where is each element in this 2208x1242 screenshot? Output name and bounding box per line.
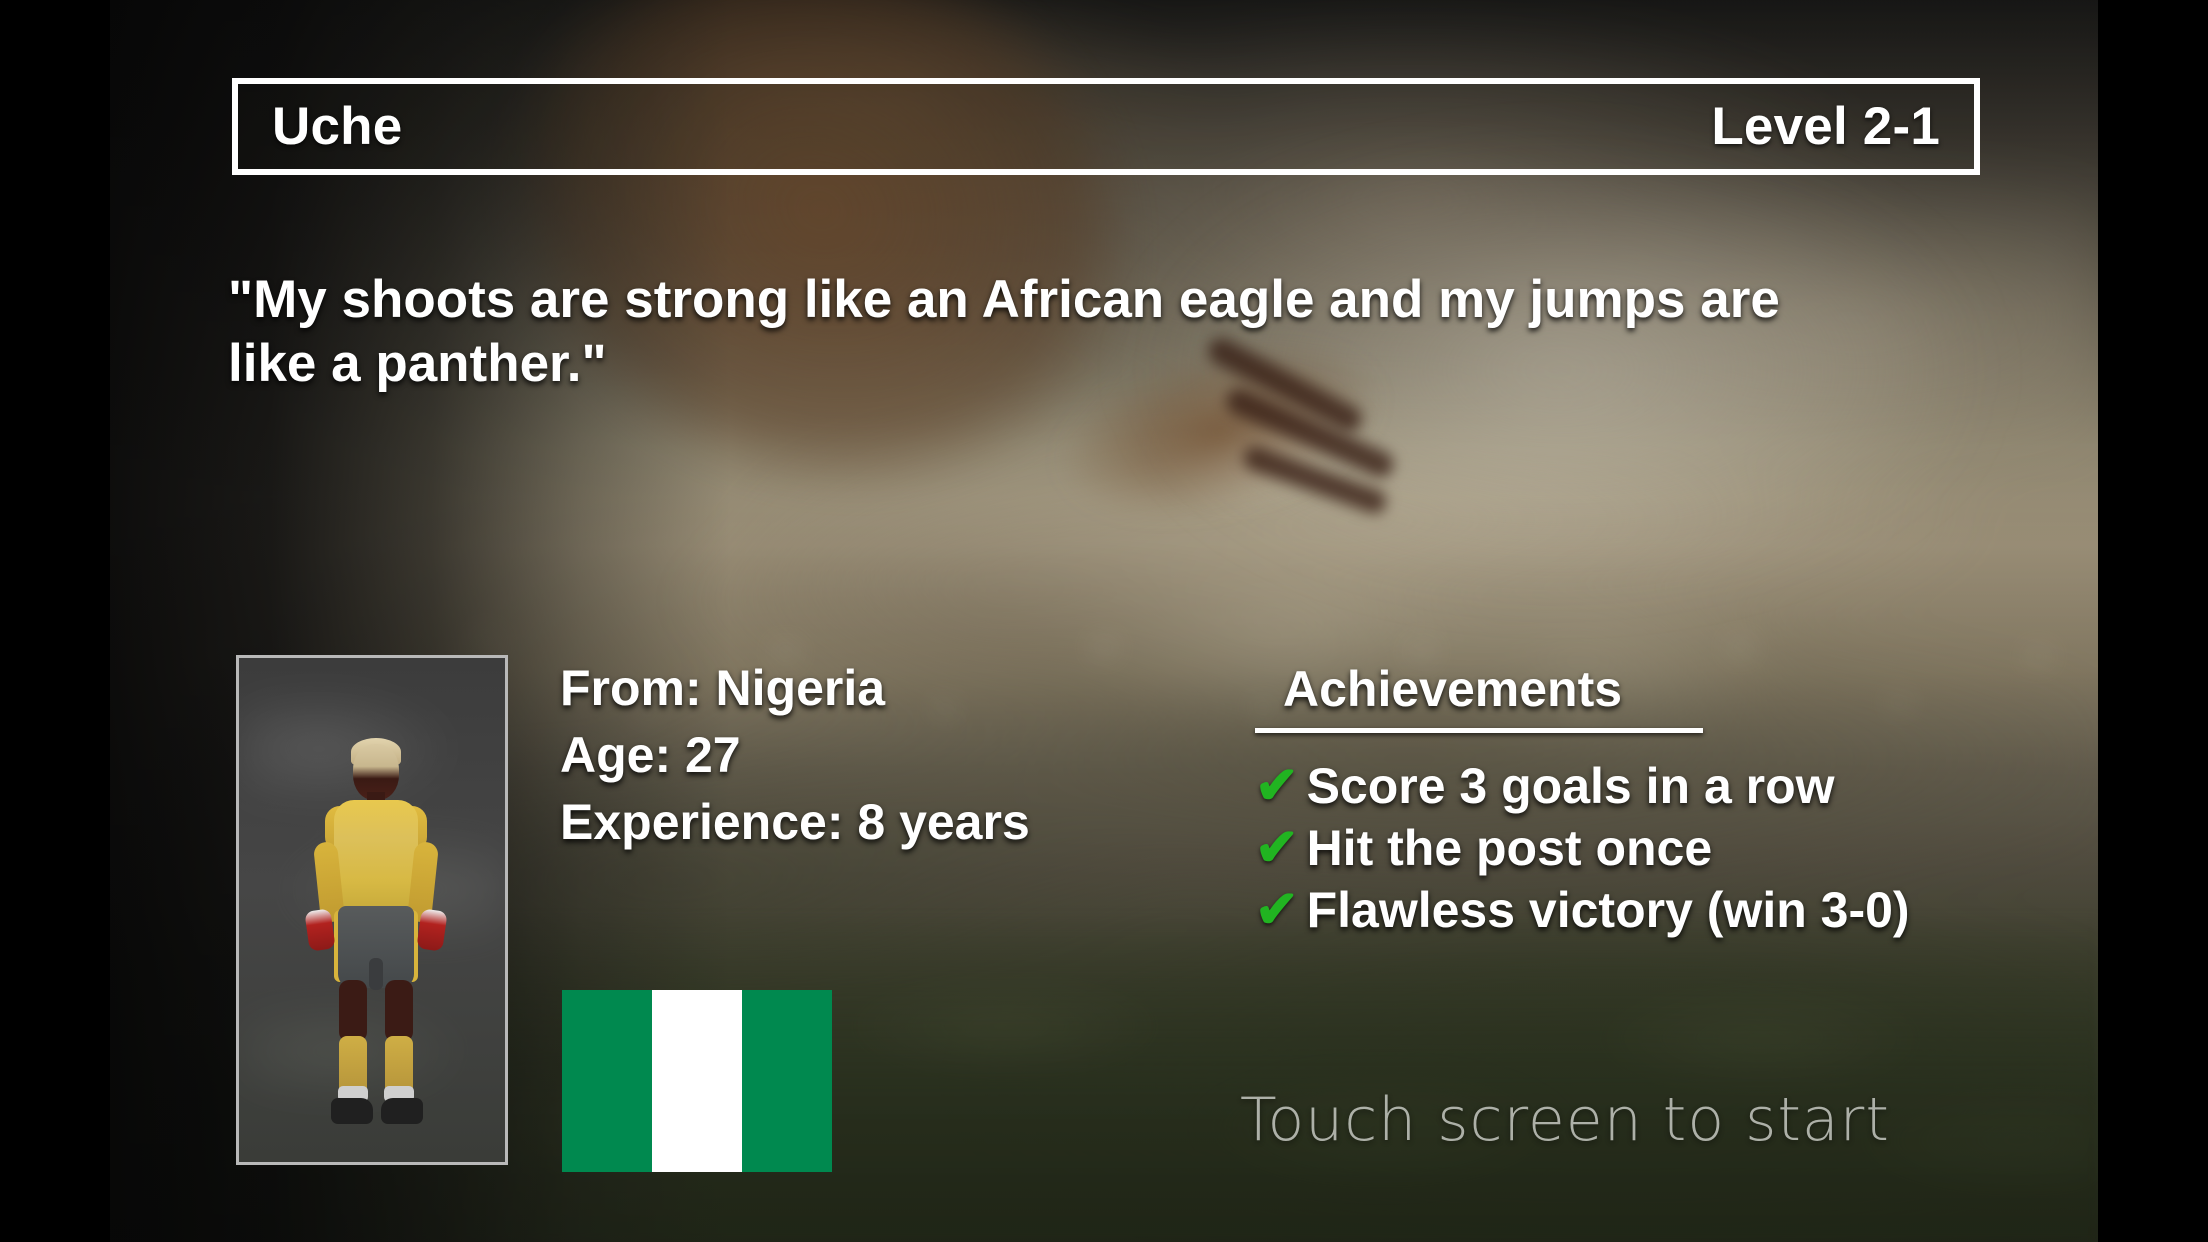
character-glove-left xyxy=(304,908,335,951)
letterbox-bar-left xyxy=(0,0,110,1242)
stat-from: From: Nigeria xyxy=(560,655,1030,722)
nigeria-flag xyxy=(562,990,832,1172)
game-screen[interactable]: Uche Level 2-1 "My shoots are strong lik… xyxy=(0,0,2208,1242)
player-quote: "My shoots are strong like an African ea… xyxy=(228,268,1868,395)
character-glove-right xyxy=(416,908,447,951)
character-jersey xyxy=(334,800,418,908)
character-leg-left xyxy=(339,980,367,1042)
character-boot-left xyxy=(331,1098,373,1124)
player-name: Uche xyxy=(272,100,402,153)
touch-to-start-prompt[interactable]: Touch screen to start xyxy=(1240,1085,1890,1155)
player-header-bar: Uche Level 2-1 xyxy=(232,78,1980,175)
achievements-panel: Achievements ✔ Score 3 goals in a row ✔ … xyxy=(1255,660,1910,941)
achievements-divider xyxy=(1255,728,1703,733)
character-shorts-gap xyxy=(369,958,383,990)
flag-stripe-white xyxy=(652,990,742,1172)
stat-age: Age: 27 xyxy=(560,722,1030,789)
stat-experience: Experience: 8 years xyxy=(560,789,1030,856)
check-icon: ✔ xyxy=(1255,822,1299,874)
letterbox-bar-right xyxy=(2098,0,2208,1242)
achievement-item: ✔ Score 3 goals in a row xyxy=(1255,755,1910,817)
level-label: Level 2-1 xyxy=(1711,100,1940,153)
check-icon: ✔ xyxy=(1255,884,1299,936)
achievement-label: Score 3 goals in a row xyxy=(1307,755,1835,817)
check-icon: ✔ xyxy=(1255,760,1299,812)
achievement-label: Flawless victory (win 3-0) xyxy=(1307,879,1910,941)
achievement-label: Hit the post once xyxy=(1307,817,1713,879)
player-portrait-frame xyxy=(236,655,508,1165)
player-stats: From: Nigeria Age: 27 Experience: 8 year… xyxy=(560,655,1030,856)
flag-stripe-green-right xyxy=(742,990,832,1172)
achievement-item: ✔ Hit the post once xyxy=(1255,817,1910,879)
character-leg-right xyxy=(385,980,413,1042)
goalkeeper-character-model xyxy=(239,658,508,1165)
character-boot-right xyxy=(381,1098,423,1124)
achievement-item: ✔ Flawless victory (win 3-0) xyxy=(1255,879,1910,941)
flag-stripe-green-left xyxy=(562,990,652,1172)
achievements-title: Achievements xyxy=(1255,660,1622,718)
